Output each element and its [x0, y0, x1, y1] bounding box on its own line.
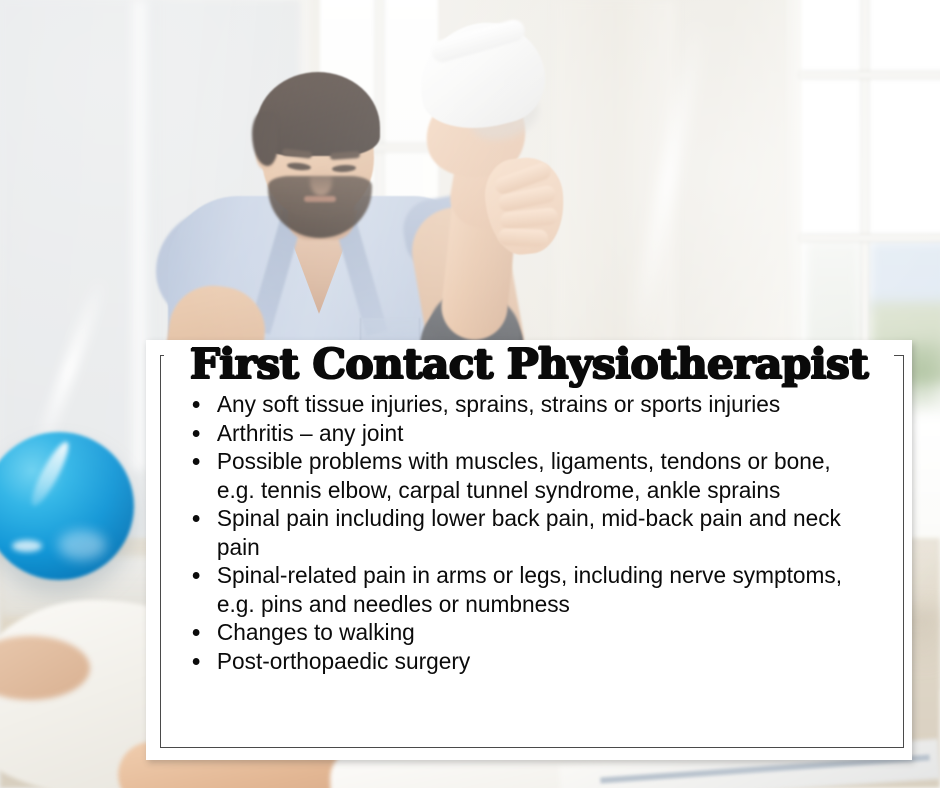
information-card: First Contact Physiotherapist Any soft t…: [146, 340, 912, 760]
therapist-finger-little: [498, 228, 549, 247]
exercise-ball-highlight-soft: [58, 530, 106, 560]
exercise-ball-highlight-small: [12, 540, 42, 552]
list-item: Any soft tissue injuries, sprains, strai…: [186, 390, 865, 419]
window-right-upper-transom: [800, 72, 940, 78]
poster-root: First Contact Physiotherapist Any soft t…: [0, 0, 940, 788]
list-item: Changes to walking: [186, 618, 865, 647]
list-item: Spinal pain including lower back pain, m…: [186, 504, 865, 561]
therapist-mouth: [304, 196, 336, 202]
list-item: Spinal-related pain in arms or legs, inc…: [186, 561, 865, 618]
window-right-lower-transom: [800, 235, 940, 241]
therapist-nose: [310, 166, 332, 196]
list-item: Arthritis – any joint: [186, 419, 865, 448]
service-list: Any soft tissue injuries, sprains, strai…: [186, 390, 890, 675]
list-item: Post-orthopaedic surgery: [186, 647, 865, 676]
list-item: Possible problems with muscles, ligament…: [186, 447, 865, 504]
page-title: First Contact Physiotherapist: [135, 340, 924, 388]
outdoor-view-left: [806, 242, 860, 352]
